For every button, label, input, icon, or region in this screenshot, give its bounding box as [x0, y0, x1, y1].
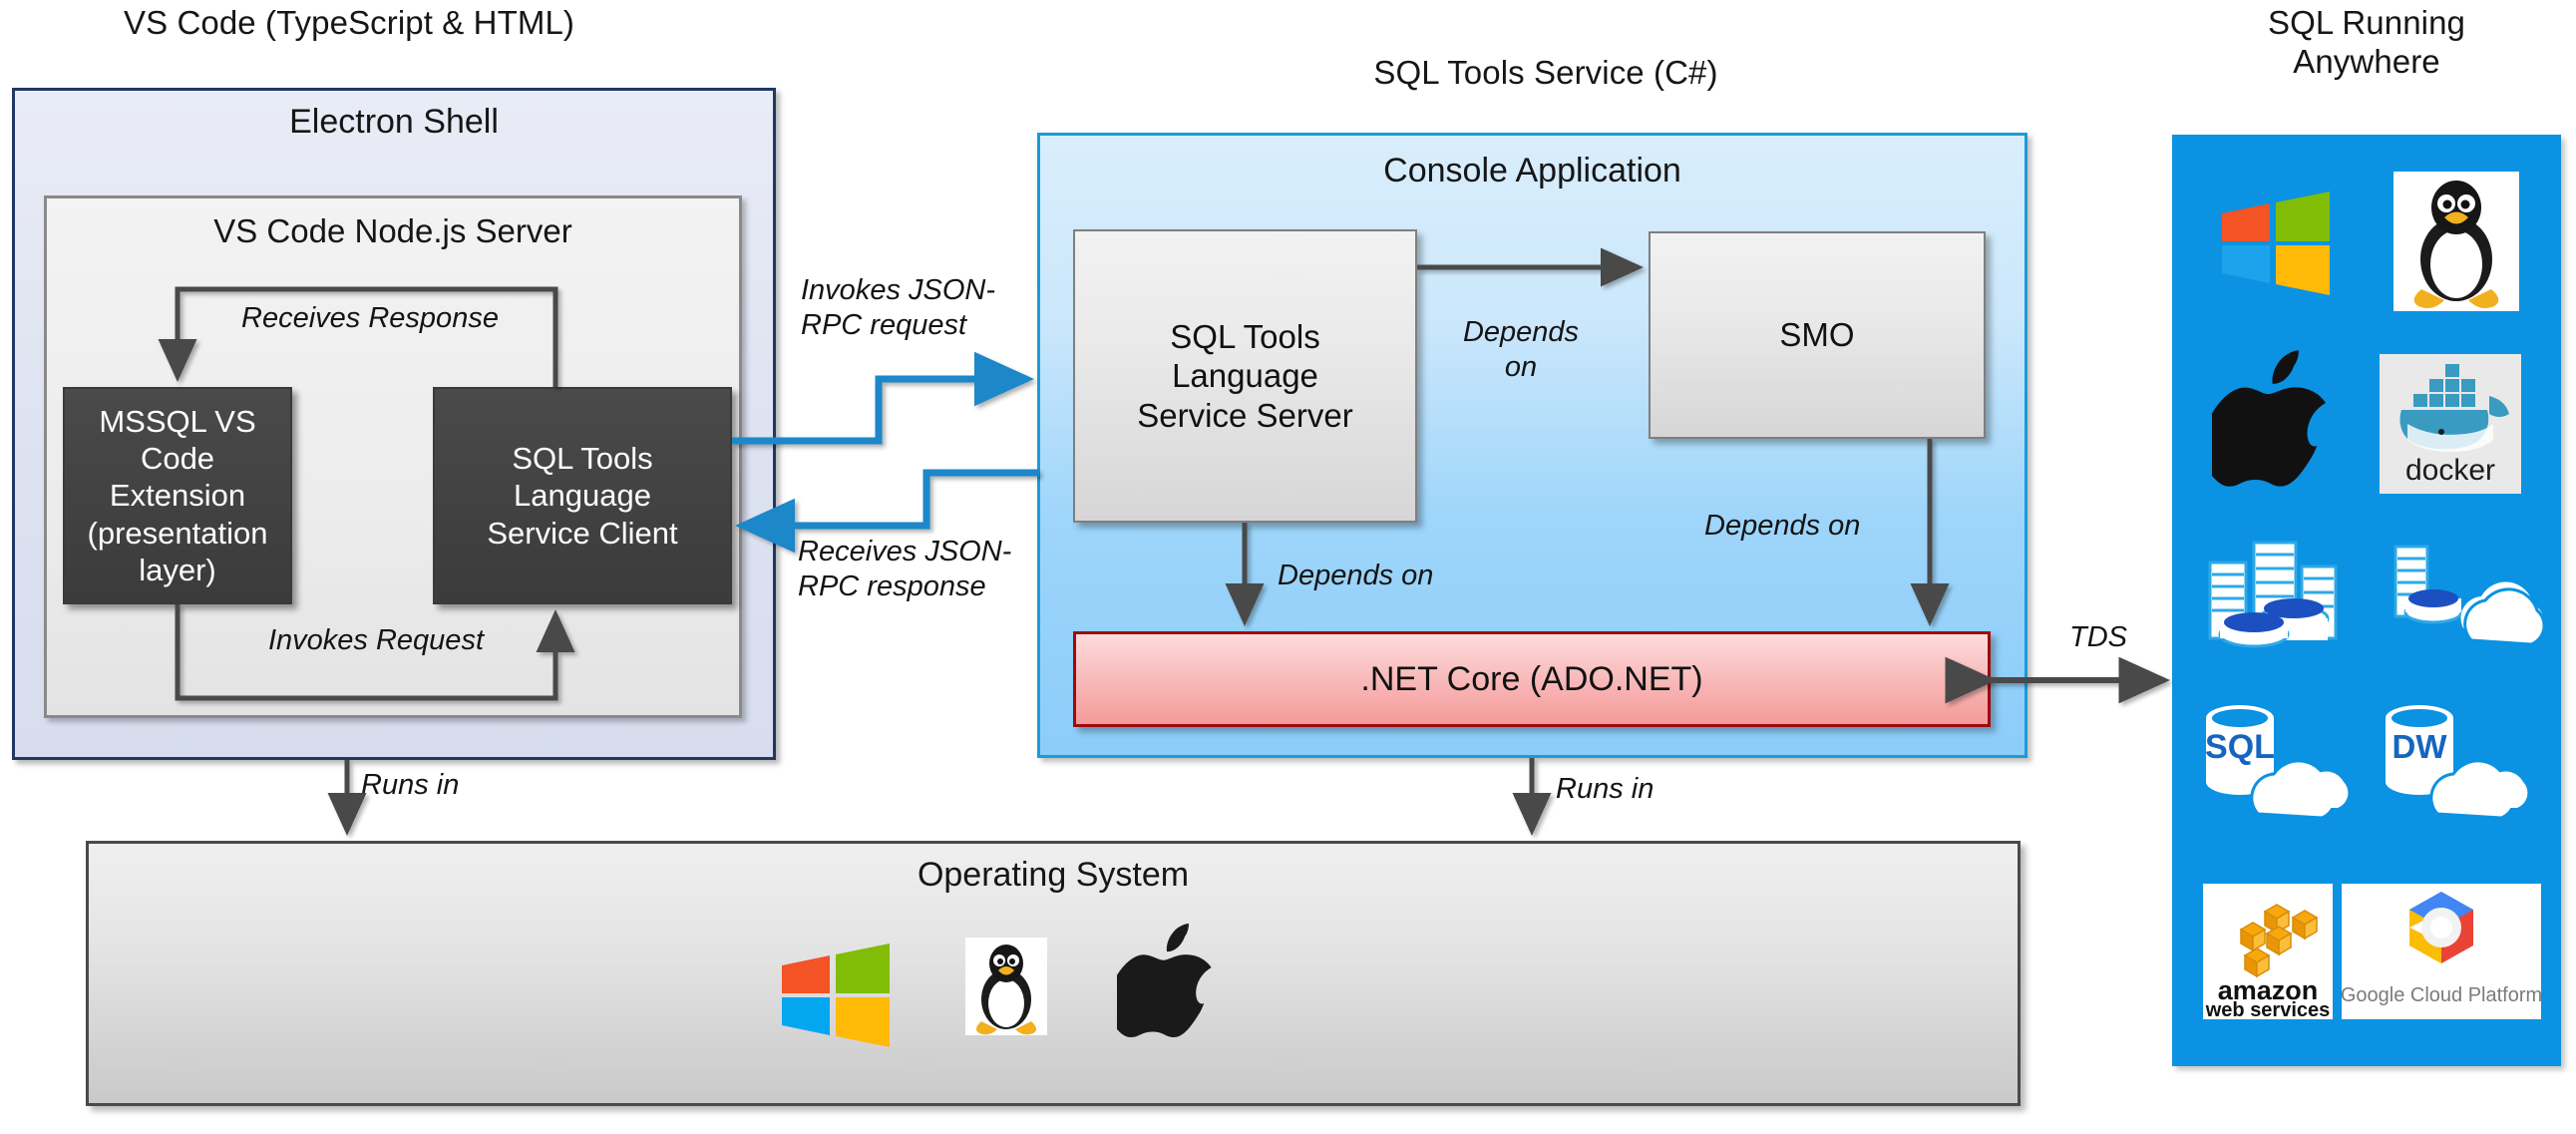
- diagram-canvas: VS Code (TypeScript & HTML) SQL Tools Se…: [0, 0, 2576, 1134]
- sql-anywhere-apple-logo: [2212, 349, 2338, 495]
- google-cloud-platform-logo: Google Cloud Platform: [2342, 884, 2541, 1019]
- box-mssql-vscode-extension-label: MSSQL VS Code Extension (presentation la…: [71, 403, 284, 588]
- box-sql-tools-language-service-server[interactable]: SQL Tools Language Service Server: [1073, 229, 1417, 523]
- azure-sql-data-warehouse-icon: DW: [2372, 694, 2551, 834]
- vscode-nodejs-server-title: VS Code Node.js Server: [47, 212, 739, 250]
- edge-label-depends-on-adonet-from-server: Depends on: [1278, 559, 1537, 593]
- edge-label-invokes-jsonrpc-request: Invokes JSON- RPC request: [801, 273, 1060, 343]
- azure-sql-database-label: SQL: [2205, 728, 2275, 766]
- amazon-web-services-logo: amazon web services: [2203, 884, 2333, 1019]
- operating-system-panel: Operating System: [86, 841, 2021, 1106]
- apple-logo: [1117, 923, 1221, 1044]
- caption-sql-tools-service: SQL Tools Service (C#): [1107, 54, 1985, 93]
- docker-logo-label: docker: [2405, 454, 2495, 487]
- aws-wordmark-bottom: web services: [2205, 999, 2331, 1019]
- box-dotnet-core-adonet-label: .NET Core (ADO.NET): [1360, 660, 1702, 699]
- sql-anywhere-windows-logo: [2218, 189, 2334, 297]
- edge-label-depends-on-smo: Depends on: [1431, 315, 1611, 385]
- box-smo-label: SMO: [1779, 315, 1854, 355]
- edge-label-runs-in-service: Runs in: [1556, 772, 1755, 807]
- sql-server-on-premises-icon: [2202, 527, 2356, 656]
- azure-sql-database-icon: SQL: [2192, 694, 2372, 834]
- box-sql-tools-language-service-client-label: SQL Tools Language Service Client: [487, 440, 677, 552]
- azure-sql-data-warehouse-label: DW: [2392, 728, 2448, 765]
- windows-logo: [778, 942, 894, 1049]
- box-mssql-vscode-extension[interactable]: MSSQL VS Code Extension (presentation la…: [63, 387, 292, 604]
- caption-vscode: VS Code (TypeScript & HTML): [20, 4, 678, 43]
- sql-server-vm-cloud-icon: [2386, 529, 2553, 656]
- electron-shell-title: Electron Shell: [15, 103, 773, 142]
- operating-system-title: Operating System: [89, 856, 2018, 895]
- sql-anywhere-linux-penguin-logo: [2393, 172, 2519, 311]
- edge-label-runs-in-vscode: Runs in: [361, 768, 560, 803]
- edge-label-receives-jsonrpc-response: Receives JSON- RPC response: [798, 535, 1067, 604]
- connector-receives-jsonrpc-response: [742, 473, 1039, 526]
- caption-sql-running-anywhere: SQL Running Anywhere: [2172, 4, 2561, 82]
- docker-logo: docker: [2380, 354, 2521, 494]
- edge-label-receives-response: Receives Response: [195, 301, 545, 336]
- edge-label-depends-on-adonet-from-smo: Depends on: [1704, 509, 1964, 544]
- edge-label-tds: TDS: [2038, 620, 2158, 655]
- box-dotnet-core-adonet[interactable]: .NET Core (ADO.NET): [1073, 631, 1991, 727]
- box-smo[interactable]: SMO: [1649, 231, 1986, 439]
- console-application-title: Console Application: [1040, 152, 2024, 190]
- gcp-wordmark: Google Cloud Platform: [2342, 984, 2541, 1006]
- connector-invokes-jsonrpc-request: [732, 379, 1027, 441]
- box-sql-tools-language-service-client[interactable]: SQL Tools Language Service Client: [433, 387, 732, 604]
- linux-penguin-logo: [965, 938, 1047, 1035]
- edge-label-invokes-request: Invokes Request: [211, 623, 541, 658]
- box-sql-tools-language-service-server-label: SQL Tools Language Service Server: [1137, 317, 1352, 436]
